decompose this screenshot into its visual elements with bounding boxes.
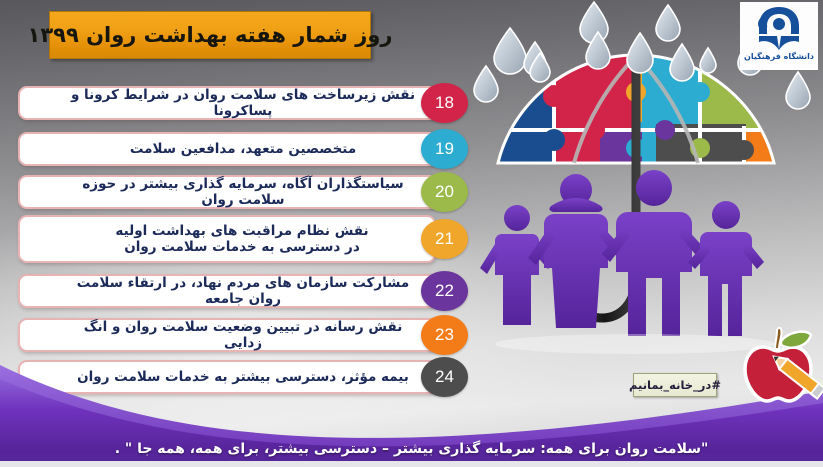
day-badge[interactable]: 18 [421, 83, 468, 123]
infographic-canvas: روز شمار هفته بهداشت روان ۱۳۹۹ دانشگاه ف… [0, 0, 823, 467]
footer-slogan: "سلامت روان برای همه: سرمایه گذاری بیشتر… [0, 441, 823, 457]
day-badge[interactable]: 20 [421, 172, 468, 212]
logo-caption: دانشگاه فرهنگیان [744, 52, 814, 61]
page-title-text: روز شمار هفته بهداشت روان ۱۳۹۹ [28, 23, 393, 47]
day-badge-number: 21 [435, 229, 454, 249]
schedule-row[interactable]: سیاستگذاران آگاه، سرمایه گذاری بیشتر در … [18, 175, 438, 209]
schedule-row-text: متخصصین متعهد، مدافعین سلامت [20, 141, 436, 157]
schedule-row[interactable]: نقش زیرساخت های سلامت روان در شرایط کرون… [18, 86, 438, 120]
hashtag-badge: #در_خانه_بمانیم [633, 373, 717, 397]
university-emblem-icon [751, 4, 807, 54]
page-title: روز شمار هفته بهداشت روان ۱۳۹۹ [49, 11, 371, 59]
day-badge-number: 23 [435, 325, 454, 345]
schedule-row[interactable]: نقش رسانه در تبیین وضعیت سلامت روان و ان… [18, 318, 438, 352]
day-badge-number: 22 [435, 281, 454, 301]
day-badge[interactable]: 22 [421, 271, 468, 311]
day-badge[interactable]: 19 [421, 129, 468, 169]
schedule-row-text: سیاستگذاران آگاه، سرمایه گذاری بیشتر در … [20, 176, 436, 209]
day-badge[interactable]: 23 [421, 315, 468, 355]
schedule-row-text: نقش رسانه در تبیین وضعیت سلامت روان و ان… [20, 319, 436, 352]
schedule-row-text: نقش زیرساخت های سلامت روان در شرایط کرون… [20, 87, 436, 120]
hashtag-text: #در_خانه_بمانیم [629, 378, 721, 392]
schedule-row-text: مشارکت سازمان های مردم نهاد، در ارتقاء س… [20, 275, 436, 308]
day-badge-number: 20 [435, 182, 454, 202]
farhangian-university-logo: دانشگاه فرهنگیان [740, 2, 818, 70]
schedule-row-text: نقش نظام مراقبت های بهداشت اولیه در دستر… [20, 223, 434, 256]
day-badge-number: 19 [435, 139, 454, 159]
schedule-row[interactable]: مشارکت سازمان های مردم نهاد، در ارتقاء س… [18, 274, 438, 308]
day-badge-number: 18 [435, 93, 454, 113]
schedule-row[interactable]: نقش نظام مراقبت های بهداشت اولیه در دستر… [18, 215, 436, 263]
day-badge[interactable]: 21 [421, 219, 468, 259]
schedule-row[interactable]: متخصصین متعهد، مدافعین سلامت [18, 132, 438, 166]
apple-and-pencil-icon [735, 327, 823, 405]
